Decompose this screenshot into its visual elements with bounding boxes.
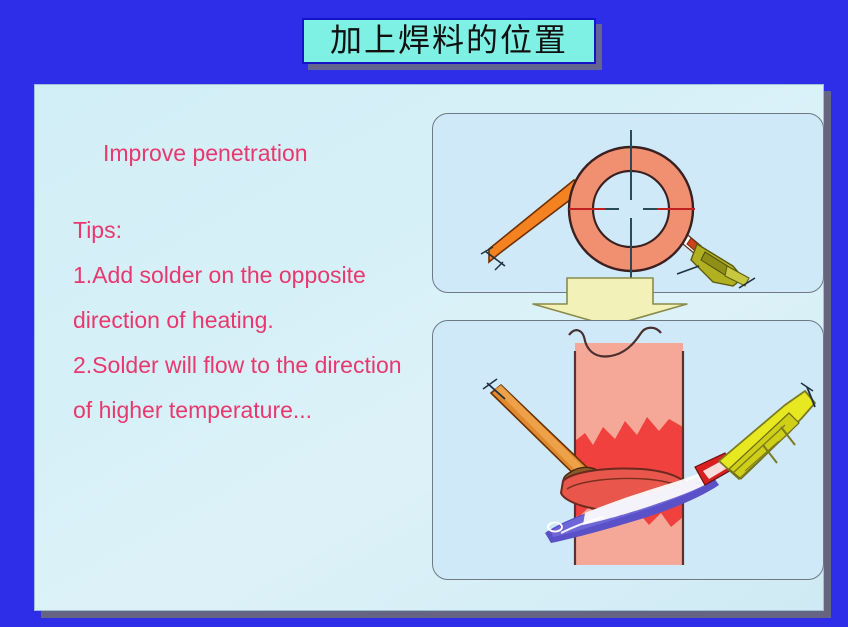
text-spacer bbox=[43, 332, 448, 354]
tip-line-3: 2.Solder will flow to the direction bbox=[73, 354, 448, 377]
solder-wire bbox=[481, 180, 583, 270]
tip-line-2: direction of heating. bbox=[73, 309, 448, 332]
content-panel: Improve penetration Tips: 1.Add solder o… bbox=[34, 84, 824, 611]
tips-label: Tips: bbox=[73, 219, 448, 242]
slide-root: 加上焊料的位置 Improve penetration Tips: 1.Add … bbox=[0, 0, 848, 627]
diagram-top-view bbox=[432, 113, 824, 293]
text-column: Improve penetration Tips: 1.Add solder o… bbox=[43, 140, 448, 422]
heading-improve-penetration: Improve penetration bbox=[103, 140, 448, 167]
text-spacer bbox=[43, 242, 448, 264]
page-title: 加上焊料的位置 bbox=[330, 24, 568, 59]
side-view-illustration bbox=[433, 321, 824, 580]
tip-line-4: of higher temperature... bbox=[73, 399, 448, 422]
top-view-illustration bbox=[433, 114, 824, 293]
soldering-iron-handle bbox=[719, 383, 815, 479]
tip-line-1: 1.Add solder on the opposite bbox=[73, 264, 448, 287]
title-box: 加上焊料的位置 bbox=[302, 18, 596, 64]
diagram-side-view bbox=[432, 320, 824, 580]
text-spacer bbox=[43, 287, 448, 309]
text-spacer bbox=[43, 377, 448, 399]
